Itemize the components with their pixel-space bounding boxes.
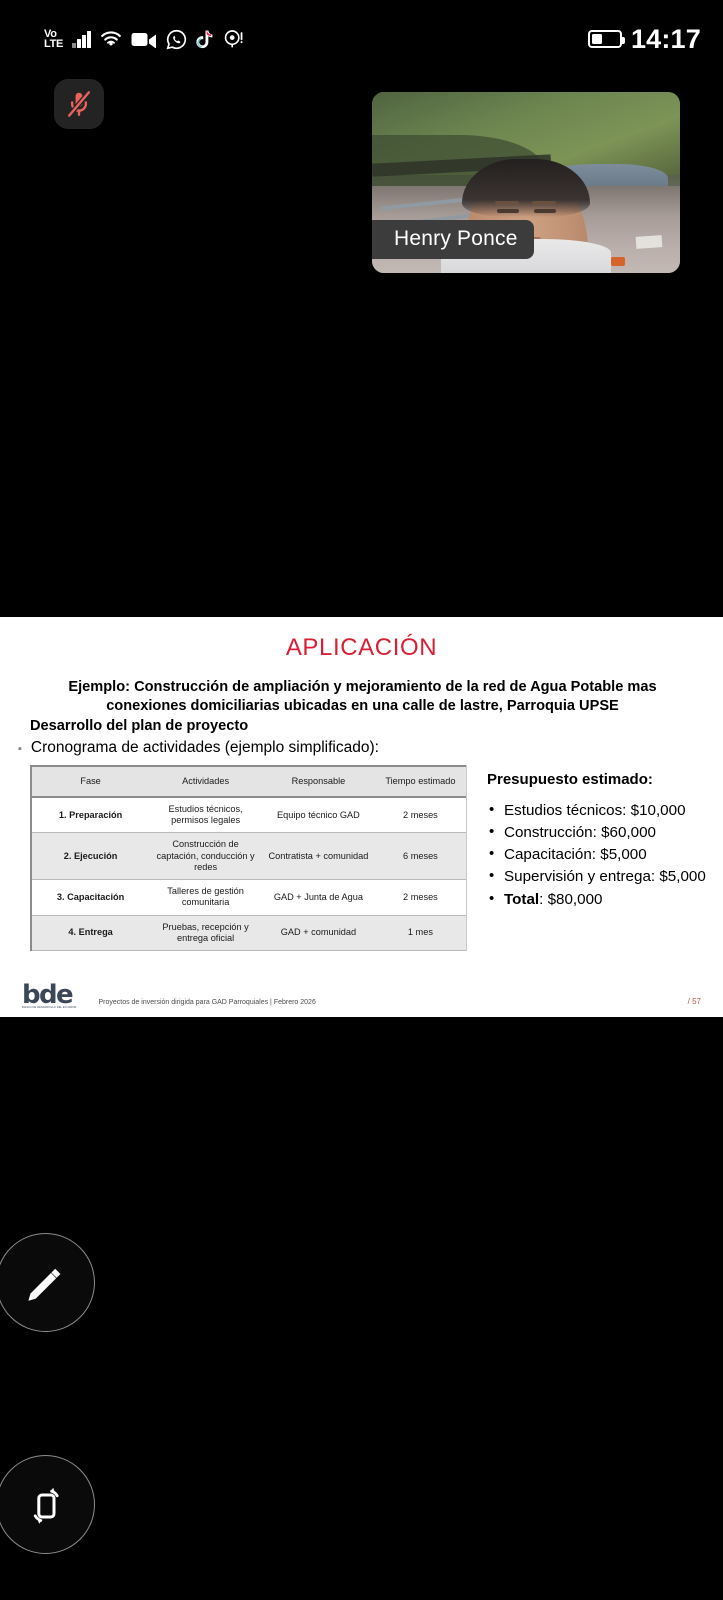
heading-line-1: Ejemplo: Construcción de ampliación y me…	[68, 679, 656, 695]
column-header-actividades: Actividades	[149, 766, 262, 797]
slide-title: APLICACIÓN	[0, 617, 723, 662]
list-item: Construcción: $60,000	[487, 823, 713, 843]
column-header-tiempo: Tiempo estimado	[375, 766, 466, 797]
wifi-icon	[100, 30, 122, 48]
table-row: 3. Capacitación Talleres de gestión comu…	[32, 880, 466, 915]
heading-line-3: Desarrollo del plan de proyecto	[30, 717, 695, 736]
bullet-intro-text: Cronograma de actividades (ejemplo simpl…	[31, 739, 379, 757]
status-bar-left-icons: Vo LTE	[44, 29, 244, 50]
heading-line-2: conexiones domiciliarias ubicadas en una…	[106, 698, 619, 714]
annotate-button[interactable]	[0, 1233, 95, 1332]
tiktok-icon	[196, 29, 215, 50]
signal-bars-icon	[72, 30, 91, 48]
list-item: Capacitación: $5,000	[487, 845, 713, 865]
status-bar-right: 14:17	[588, 24, 701, 55]
list-item-total: Total: $80,000	[487, 890, 713, 910]
budget-title: Presupuesto estimado:	[487, 771, 713, 801]
rotate-screen-icon	[22, 1481, 70, 1529]
schedule-table-wrapper: Fase Actividades Responsable Tiempo esti…	[30, 765, 467, 951]
cell-actividades: Estudios técnicos, permisos legales	[149, 797, 262, 833]
slide-footer: bde BANCO DE DESARROLLO DEL ECUADOR Proy…	[0, 985, 723, 1009]
table-header-row: Fase Actividades Responsable Tiempo esti…	[32, 766, 466, 797]
total-label: Total	[504, 891, 539, 908]
participant-video-tile[interactable]: Henry Ponce	[372, 92, 680, 273]
pencil-edit-icon	[22, 1259, 70, 1307]
table-row: 4. Entrega Pruebas, recepción y entrega …	[32, 915, 466, 950]
cell-responsable: Contratista + comunidad	[262, 833, 375, 880]
microphone-muted-icon	[63, 88, 95, 120]
presentation-slide[interactable]: APLICACIÓN Ejemplo: Construcción de ampl…	[0, 617, 723, 1017]
microphone-muted-button[interactable]	[54, 79, 104, 129]
cell-responsable: Equipo técnico GAD	[262, 797, 375, 833]
budget-list: Estudios técnicos: $10,000 Construcción:…	[487, 801, 713, 910]
budget-panel: Presupuesto estimado: Estudios técnicos:…	[487, 765, 713, 951]
cell-actividades: Talleres de gestión comunitaria	[149, 880, 262, 915]
participant-name-label: Henry Ponce	[372, 220, 534, 259]
cell-actividades: Pruebas, recepción y entrega oficial	[149, 915, 262, 950]
total-value: : $80,000	[539, 891, 602, 908]
bde-logo: bde BANCO DE DESARROLLO DEL ECUADOR	[22, 985, 76, 1009]
video-camera-icon	[131, 31, 157, 48]
cell-tiempo: 2 meses	[375, 797, 466, 833]
list-item: Estudios técnicos: $10,000	[487, 801, 713, 821]
cell-fase: 2. Ejecución	[32, 833, 149, 880]
clock-label: 14:17	[631, 24, 701, 55]
page-indicator: / 57	[688, 997, 701, 1006]
slide-heading: Ejemplo: Construcción de ampliación y me…	[0, 662, 723, 736]
battery-low-icon	[588, 30, 622, 48]
location-alert-icon	[224, 29, 244, 49]
cell-fase: 1. Preparación	[32, 797, 149, 833]
bullet-intro: ▪ Cronograma de actividades (ejemplo sim…	[0, 736, 723, 757]
column-header-responsable: Responsable	[262, 766, 375, 797]
rotate-screen-button[interactable]	[0, 1455, 95, 1554]
cell-fase: 3. Capacitación	[32, 880, 149, 915]
cell-tiempo: 2 meses	[375, 880, 466, 915]
bde-logo-subtitle: BANCO DE DESARROLLO DEL ECUADOR	[22, 1006, 76, 1009]
volte-label-bottom: LTE	[44, 39, 63, 49]
cell-fase: 4. Entrega	[32, 915, 149, 950]
status-bar: Vo LTE	[0, 0, 723, 78]
cell-responsable: GAD + Junta de Agua	[262, 880, 375, 915]
volte-indicator: Vo LTE	[44, 29, 63, 49]
bullet-dot-icon: ▪	[18, 744, 22, 755]
whatsapp-icon	[166, 29, 187, 50]
footer-text: Proyectos de inversión dirigida para GAD…	[98, 999, 315, 1006]
column-header-fase: Fase	[32, 766, 149, 797]
cell-tiempo: 1 mes	[375, 915, 466, 950]
cell-tiempo: 6 meses	[375, 833, 466, 880]
list-item: Supervisión y entrega: $5,000	[487, 867, 713, 887]
cell-responsable: GAD + comunidad	[262, 915, 375, 950]
table-row: 2. Ejecución Construcción de captación, …	[32, 833, 466, 880]
schedule-table: Fase Actividades Responsable Tiempo esti…	[32, 765, 466, 951]
cell-actividades: Construcción de captación, conducción y …	[149, 833, 262, 880]
table-row: 1. Preparación Estudios técnicos, permis…	[32, 797, 466, 833]
